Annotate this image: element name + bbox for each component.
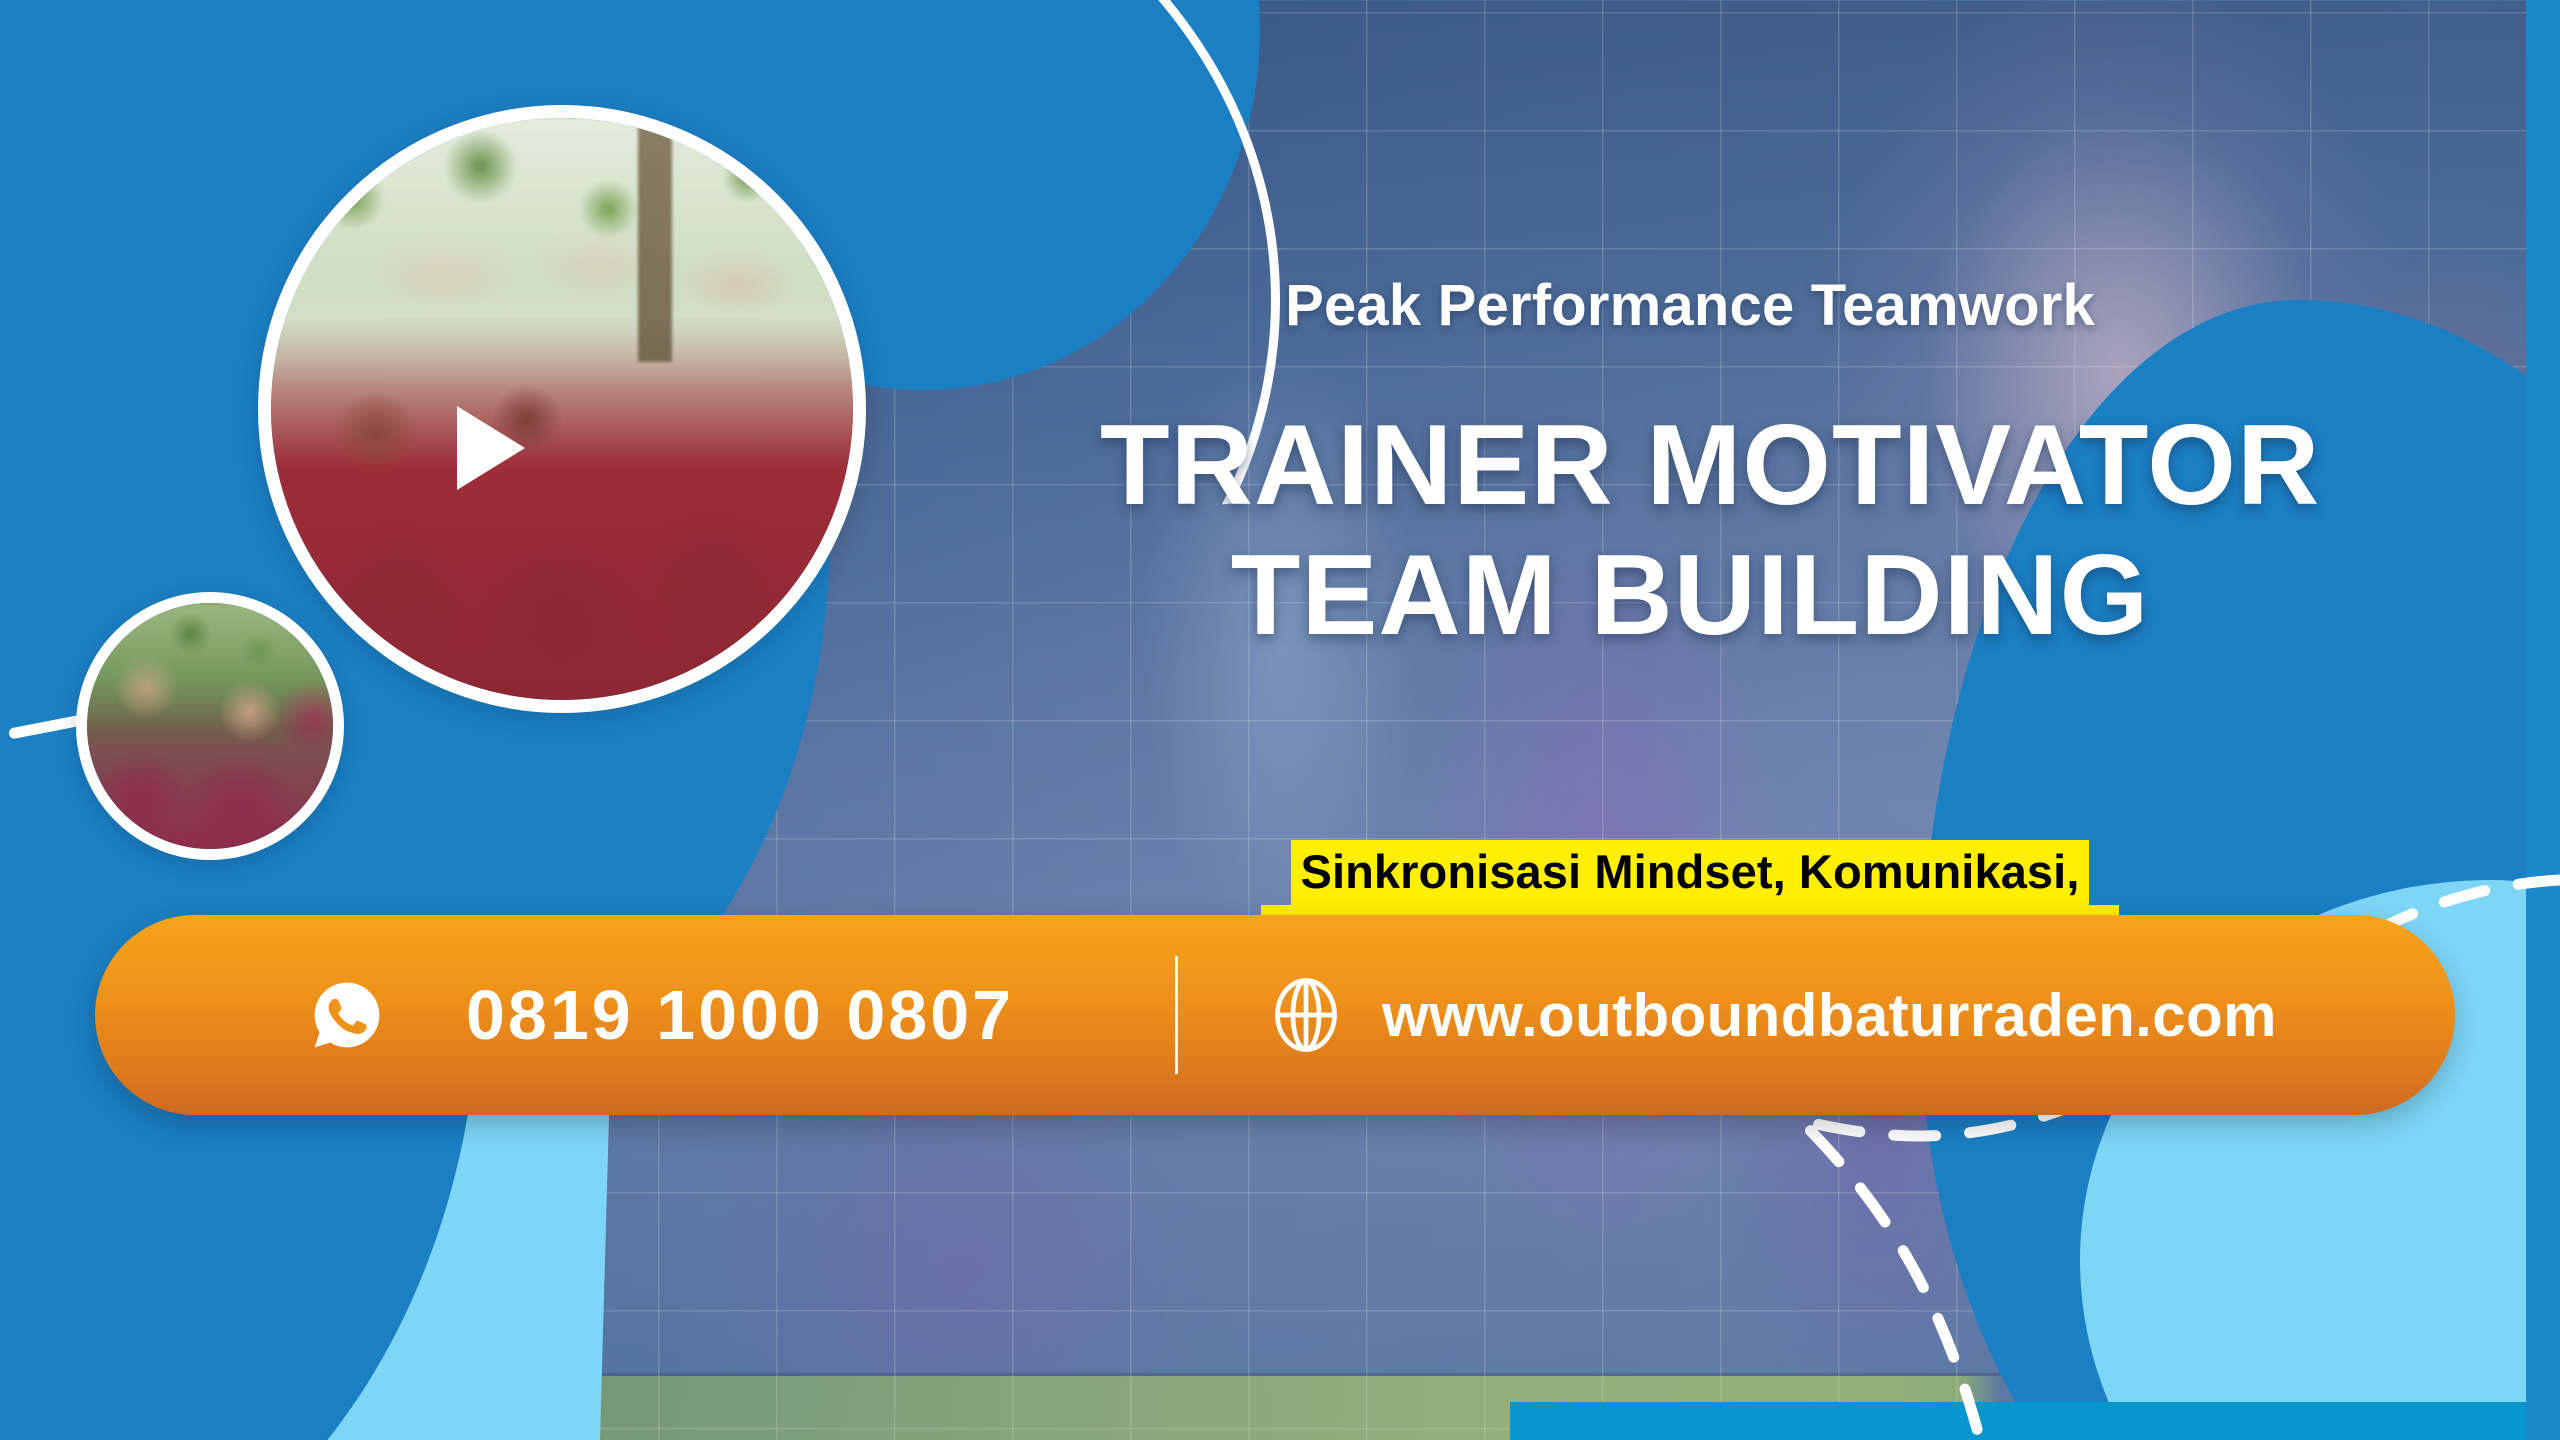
photo-circle-main-tree-trunk	[638, 118, 672, 362]
contact-bar: 0819 1000 0807 www.outboundbaturraden.co…	[95, 915, 2455, 1115]
photo-circle-secondary-foliage	[87, 603, 333, 731]
website-url-text[interactable]: www.outboundbaturraden.com	[1382, 981, 2277, 1050]
headline-line-2: TEAM BUILDING	[1100, 530, 2280, 661]
photo-circle-secondary[interactable]	[76, 592, 344, 860]
right-edge-strip	[2526, 0, 2560, 1440]
globe-icon[interactable]	[1268, 977, 1344, 1053]
whatsapp-icon[interactable]	[310, 978, 384, 1052]
headline-block: Peak Performance Teamwork TRAINER MOTIVA…	[930, 0, 2410, 1440]
phone-number-text[interactable]: 0819 1000 0807	[466, 975, 1014, 1055]
contact-website-group[interactable]: www.outboundbaturraden.com	[1178, 977, 2277, 1053]
play-triangle-icon[interactable]	[457, 406, 525, 490]
promo-banner: Peak Performance Teamwork TRAINER MOTIVA…	[0, 0, 2560, 1440]
eyebrow-text: Peak Performance Teamwork	[1100, 272, 2280, 339]
photo-circle-main[interactable]	[258, 105, 866, 713]
subtitle-line-1: Sinkronisasi Mindset, Komunikasi,	[1291, 840, 2090, 905]
headline-line-1: TRAINER MOTIVATOR	[1100, 400, 2280, 531]
contact-whatsapp-group[interactable]: 0819 1000 0807	[95, 975, 1175, 1055]
photo-circle-main-foliage	[271, 118, 853, 386]
